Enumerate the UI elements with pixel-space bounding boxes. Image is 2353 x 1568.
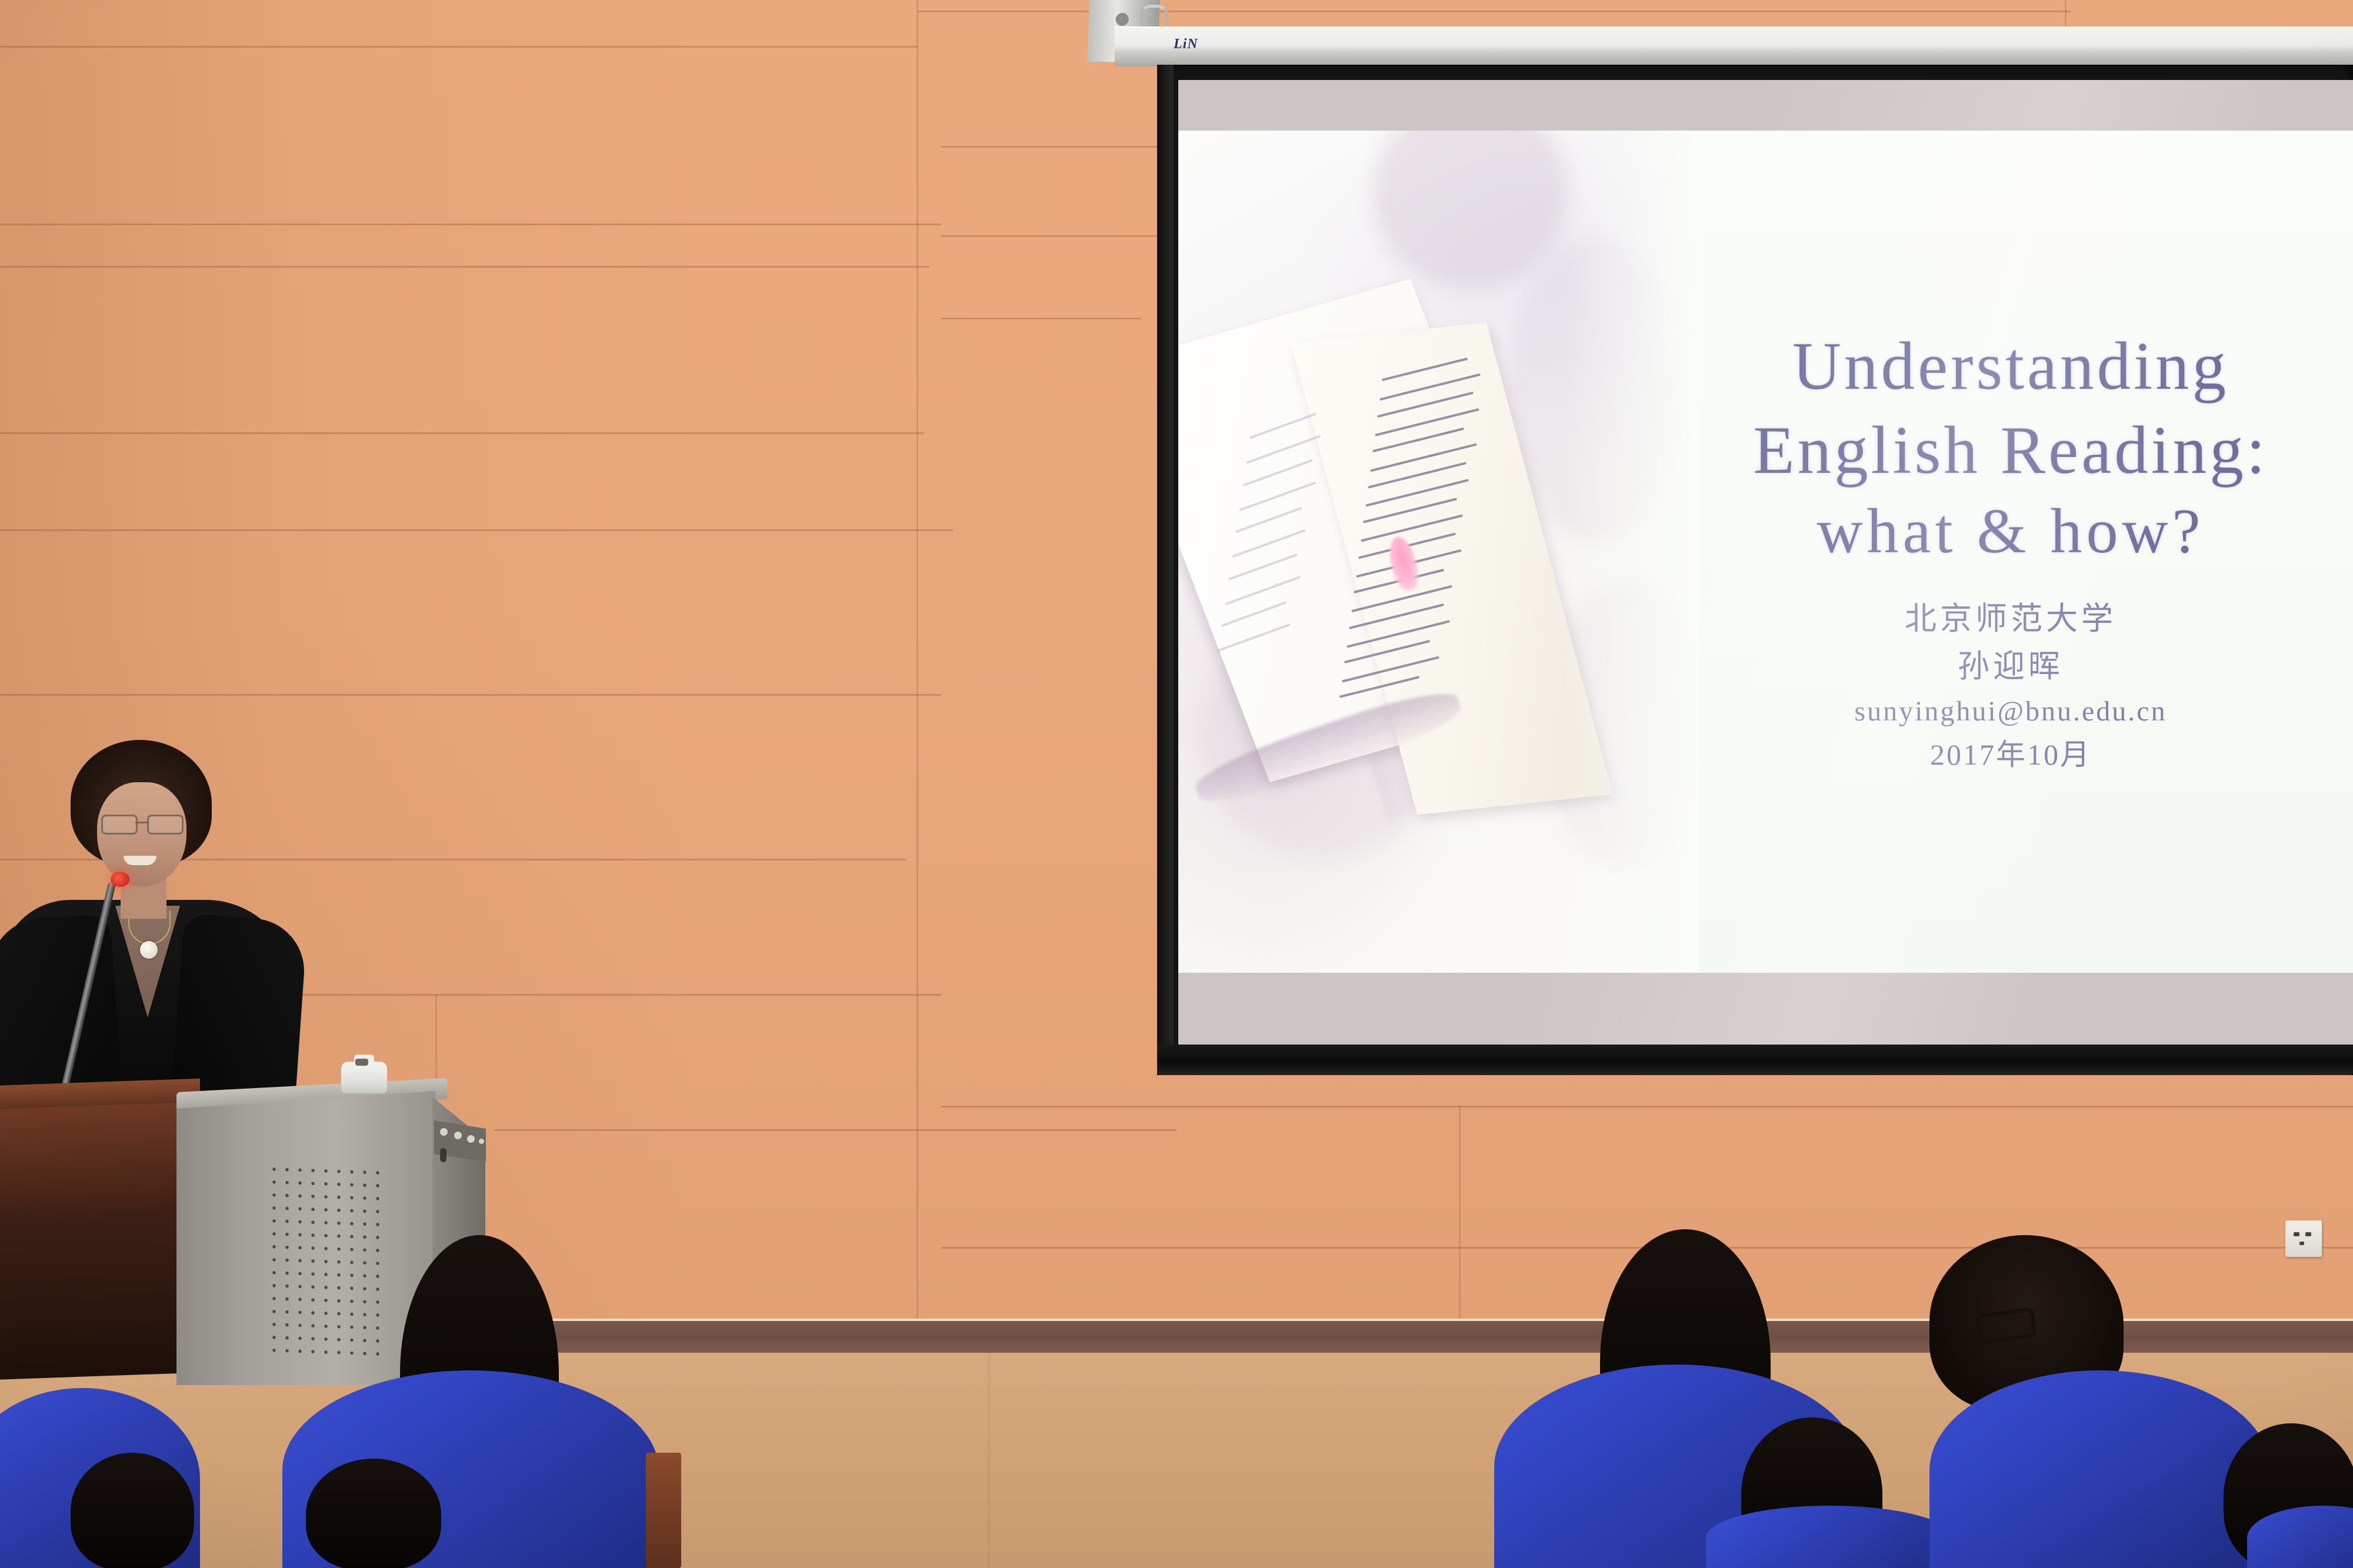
presentation-slide: Understanding English Reading: what & ho… — [1178, 131, 2353, 973]
microphone-led-icon — [111, 872, 129, 887]
wall-seam — [494, 1129, 1176, 1131]
wall-seam — [0, 266, 929, 268]
photo-edge-fade — [1564, 131, 1699, 973]
power-outlet-icon — [2285, 1220, 2322, 1257]
slide-metadata: 北京师范大学 孙迎晖 sunyinghui@bnu.edu.cn 2017年10… — [1690, 595, 2331, 777]
speaker-glasses-icon — [101, 815, 184, 832]
wall-seam — [224, 994, 941, 996]
wall-seam — [0, 46, 918, 48]
av-button-icon[interactable] — [467, 1135, 475, 1143]
wall-seam — [0, 432, 924, 434]
chair-back — [646, 1453, 681, 1568]
speaker-face — [97, 782, 186, 887]
list-item — [1706, 1506, 1953, 1568]
list-item — [1929, 1370, 2271, 1568]
slide-book-photo — [1178, 131, 1699, 973]
cup-lid-icon — [355, 1059, 368, 1066]
slide-title-line-2: English Reading: — [1690, 409, 2331, 493]
wall-seam — [0, 223, 941, 225]
slide-title: Understanding English Reading: what & ho… — [1690, 325, 2331, 571]
av-button-icon[interactable] — [479, 1139, 484, 1144]
wall-seam — [941, 1106, 2353, 1107]
wall-seam-vertical — [988, 1353, 990, 1568]
av-slot-icon — [440, 1148, 446, 1162]
audience-hair — [306, 1459, 441, 1568]
slide-date: 2017年10月 — [1690, 733, 2331, 777]
cup-on-cabinet — [341, 1062, 387, 1093]
slide-presenter-email: sunyinghui@bnu.edu.cn — [1690, 690, 2331, 733]
projector-screen-housing — [1115, 26, 2353, 66]
slide-affiliation: 北京师范大学 — [1690, 595, 2331, 643]
audience-hair — [71, 1453, 194, 1568]
slide-title-line-3: what & how? — [1690, 492, 2331, 571]
wall-seam-vertical — [916, 0, 918, 1321]
wall-seam — [0, 694, 941, 696]
projector-screen-surface: Understanding English Reading: what & ho… — [1178, 80, 2353, 1045]
wall-seam-vertical — [1459, 1106, 1461, 1321]
wall-seam — [941, 318, 1141, 319]
av-button-icon[interactable] — [454, 1132, 462, 1139]
slide-title-line-1: Understanding — [1690, 325, 2331, 409]
slide-presenter-name: 孙迎晖 — [1690, 643, 2331, 690]
speaker-mouth — [124, 856, 156, 865]
projector-screen-frame-left — [1157, 65, 1174, 1075]
speaker-grille — [268, 1163, 385, 1361]
av-button-icon[interactable] — [440, 1128, 448, 1136]
screen-brand-logo: LiN — [1174, 36, 1198, 52]
lecture-hall-photo: LiN — [0, 0, 2353, 1568]
wall-seam — [0, 529, 953, 531]
projector-screen-bottom-bar — [1157, 1045, 2353, 1075]
wooden-podium — [0, 1079, 200, 1380]
necklace-pendant-icon — [140, 941, 158, 959]
